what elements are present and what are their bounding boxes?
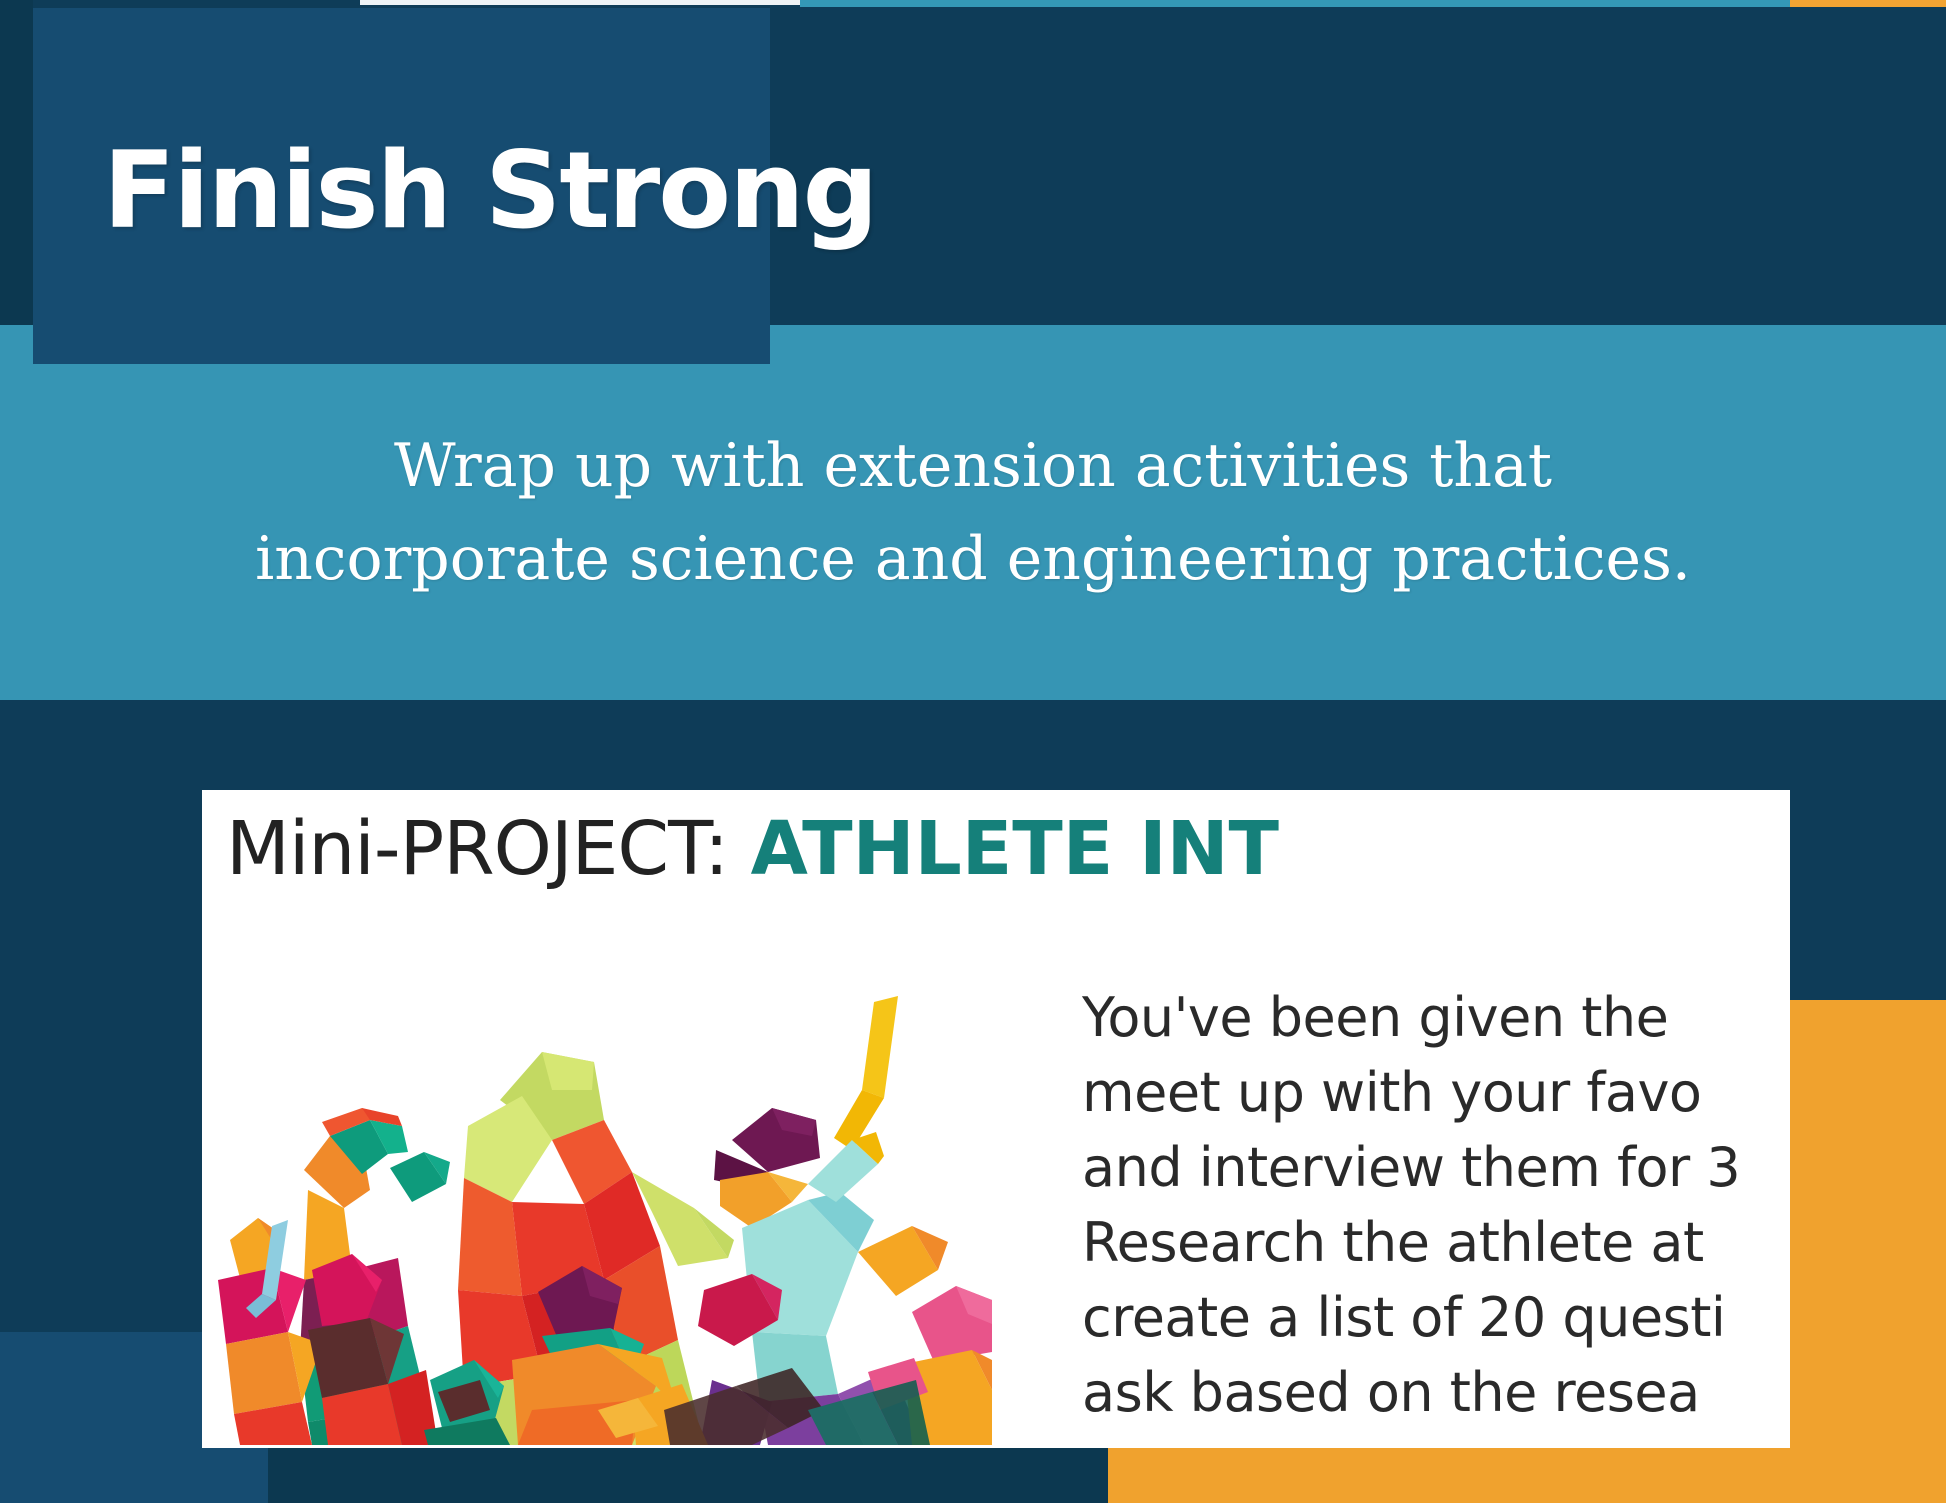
card-heading-prefix: Mini-PROJECT: bbox=[226, 806, 751, 892]
background-orange-block bbox=[1770, 1000, 1946, 1503]
background-bottom-dark-block bbox=[268, 1448, 1108, 1503]
card-heading: Mini-PROJECT: ATHLETE INT bbox=[226, 812, 1279, 886]
card-body-line-1: You've been given the bbox=[1082, 980, 1790, 1055]
slide-subtitle: Wrap up with extension activities that i… bbox=[0, 330, 1946, 695]
top-accent-line-white bbox=[360, 0, 800, 5]
top-accent-line-teal bbox=[800, 0, 1790, 7]
card-body-line-2: meet up with your favo bbox=[1082, 1055, 1790, 1130]
top-accent-line-orange bbox=[1790, 0, 1946, 7]
athlete-collage-illustration bbox=[212, 940, 992, 1445]
title-panel: Finish Strong bbox=[33, 8, 770, 364]
slide-canvas: Finish Strong Wrap up with extension act… bbox=[0, 0, 1946, 1503]
subtitle-line-2: incorporate science and engineering prac… bbox=[255, 513, 1691, 606]
card-body-line-4: Research the athlete at bbox=[1082, 1205, 1790, 1280]
card-body-line-5: create a list of 20 questi bbox=[1082, 1280, 1790, 1355]
card-body-line-3: and interview them for 3 bbox=[1082, 1130, 1790, 1205]
subtitle-line-1: Wrap up with extension activities that bbox=[394, 420, 1552, 513]
card-heading-accent: ATHLETE INT bbox=[751, 806, 1279, 892]
card-body-line-6: ask based on the resea bbox=[1082, 1355, 1790, 1430]
mini-project-card: Mini-PROJECT: ATHLETE INT You've been gi… bbox=[202, 790, 1790, 1448]
background-bottom-orange-block bbox=[1108, 1448, 1946, 1503]
slide-title: Finish Strong bbox=[103, 138, 876, 244]
card-body-text: You've been given the meet up with your … bbox=[1082, 980, 1790, 1430]
